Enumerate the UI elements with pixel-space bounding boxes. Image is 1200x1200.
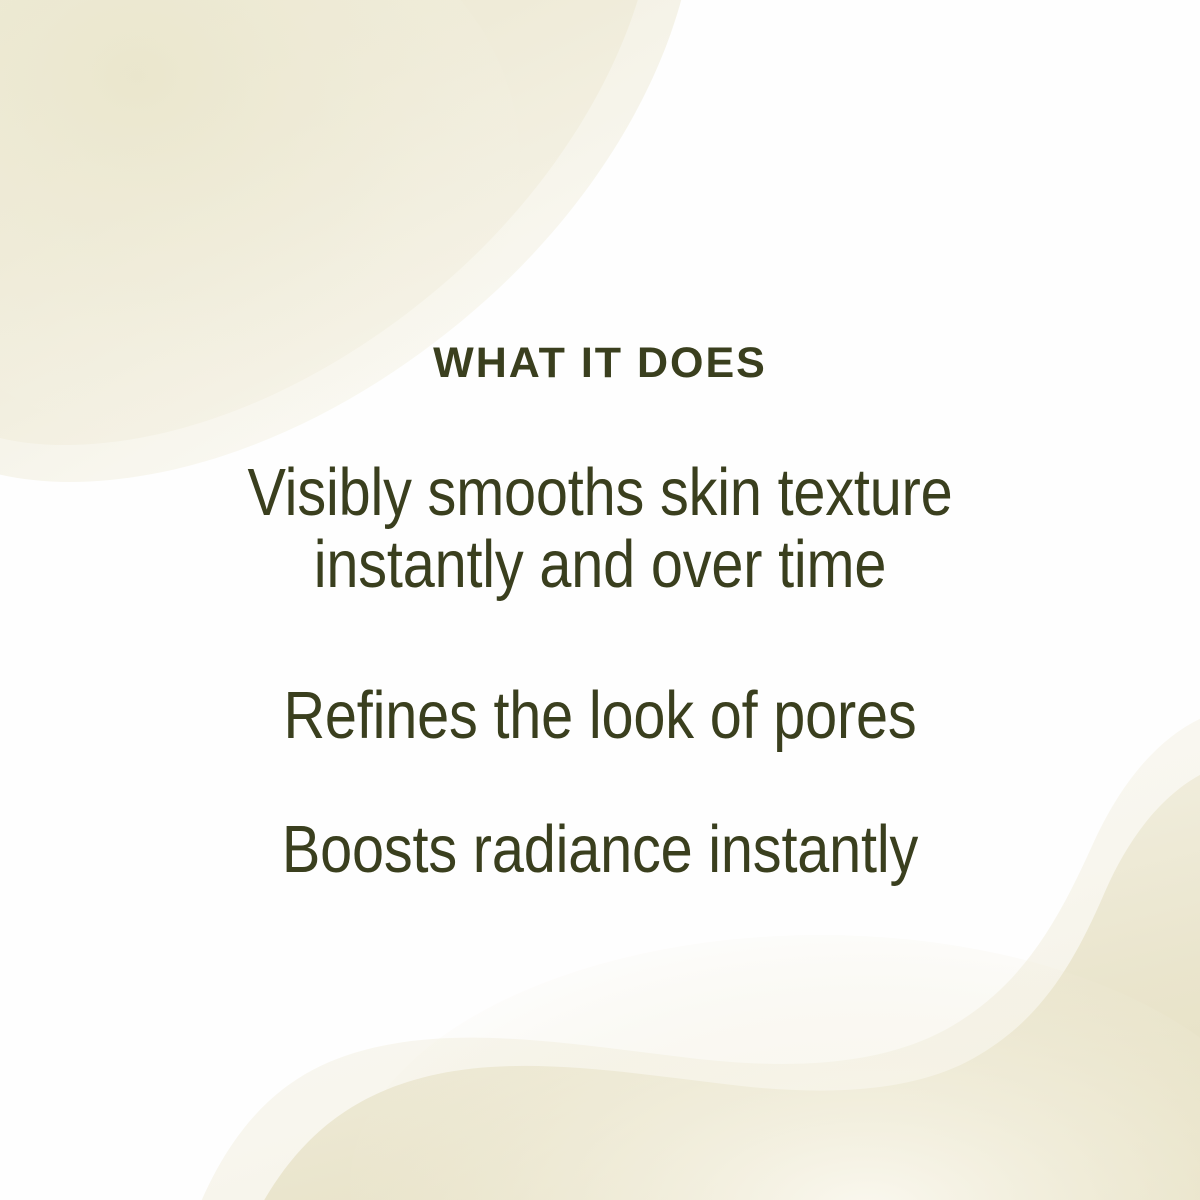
- benefit-item-pores: Refines the look of pores: [84, 680, 1116, 752]
- benefit-list: Visibly smooths skin texture instantly a…: [0, 385, 1200, 886]
- content-column: WHAT IT DOES Visibly smooths skin textur…: [0, 0, 1200, 1200]
- poster-canvas: WHAT IT DOES Visibly smooths skin textur…: [0, 0, 1200, 1200]
- section-eyebrow-heading: WHAT IT DOES: [433, 342, 767, 385]
- benefit-item-texture: Visibly smooths skin texture instantly a…: [84, 457, 1116, 602]
- benefit-item-radiance: Boosts radiance instantly: [84, 814, 1116, 886]
